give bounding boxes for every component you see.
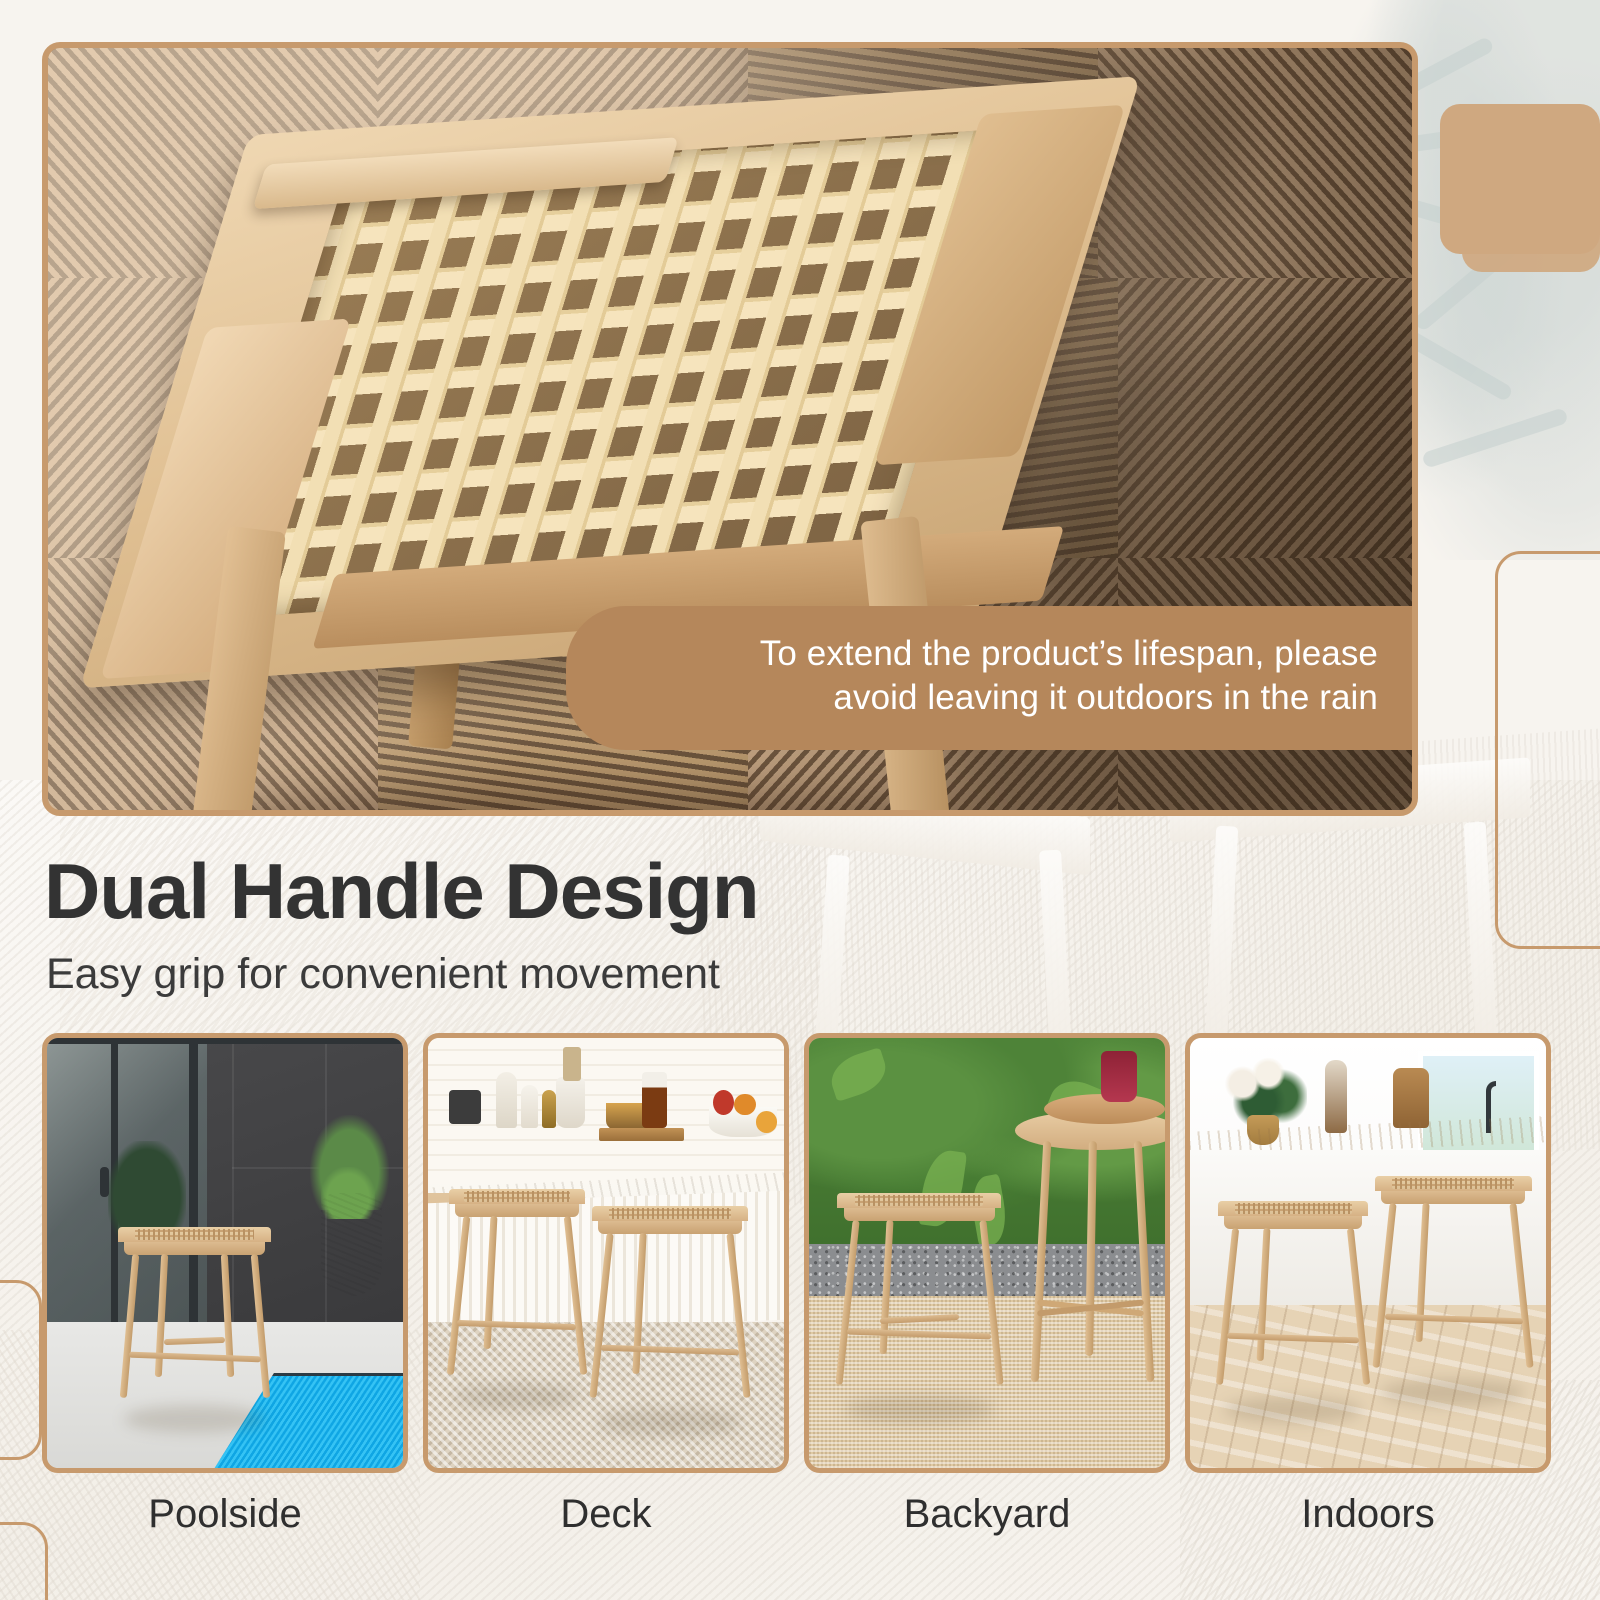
- scenario-card-backyard[interactable]: [804, 1033, 1170, 1473]
- kitchen-bottle-1: [496, 1072, 517, 1128]
- care-instruction-line1: To extend the product’s lifespan, please: [638, 632, 1378, 676]
- page-title: Dual Handle Design: [44, 846, 758, 937]
- poolside-stool: [118, 1227, 271, 1425]
- hero-image: To extend the product’s lifespan, please…: [42, 42, 1418, 816]
- kitchen-orange: [734, 1094, 755, 1116]
- indoor-cutting-board: [1393, 1068, 1429, 1128]
- kitchen-cutting-board: [599, 1128, 684, 1141]
- caption-indoors: Indoors: [1185, 1492, 1551, 1537]
- scenario-card-deck[interactable]: [423, 1033, 789, 1473]
- kitchen-orange-2: [756, 1111, 777, 1133]
- backyard-drink-jar: [1101, 1051, 1137, 1103]
- decor-frame-card-outline: [0, 1280, 42, 1460]
- kitchen-oil-bottle: [542, 1090, 556, 1129]
- kitchen-bottle-2: [521, 1085, 539, 1128]
- care-instruction-banner: To extend the product’s lifespan, please…: [566, 606, 1412, 750]
- caption-poolside: Poolside: [42, 1492, 408, 1537]
- decor-frame-right: [1495, 551, 1600, 949]
- kitchen-utensils: [563, 1047, 581, 1081]
- page-subtitle: Easy grip for convenient movement: [46, 950, 720, 999]
- poolside-scene: [47, 1038, 403, 1468]
- scenario-card-indoors[interactable]: [1185, 1033, 1551, 1473]
- backyard-stool: [837, 1193, 1001, 1417]
- scenario-card-poolside[interactable]: [42, 1033, 408, 1473]
- usage-scenario-gallery: [42, 1033, 1558, 1473]
- kitchen-coffee-maker: [642, 1072, 667, 1128]
- backyard-scene: [809, 1038, 1165, 1468]
- caption-deck: Deck: [423, 1492, 789, 1537]
- deck-stool-right: [592, 1206, 749, 1430]
- decor-frame-bottom-left: [0, 1522, 48, 1600]
- scenario-captions: Poolside Deck Backyard Indoors: [42, 1492, 1558, 1537]
- indoor-stool-right: [1375, 1176, 1532, 1400]
- deck-kitchen-scene: [428, 1038, 784, 1468]
- pool-white-planter: [321, 1193, 382, 1296]
- kitchen-frame: [449, 1090, 481, 1124]
- deck-stool-left: [449, 1189, 584, 1404]
- kitchen-utensil-crock: [556, 1077, 584, 1129]
- indoors-kitchen-scene: [1190, 1038, 1546, 1468]
- care-instruction-line2: avoid leaving it outdoors in the rain: [638, 676, 1378, 720]
- stool-ground-shadow: [168, 788, 988, 816]
- indoor-bottle: [1325, 1060, 1346, 1133]
- indoor-stool-left: [1218, 1201, 1368, 1416]
- caption-backyard: Backyard: [804, 1492, 1170, 1537]
- decor-square-top-large: [1462, 168, 1600, 272]
